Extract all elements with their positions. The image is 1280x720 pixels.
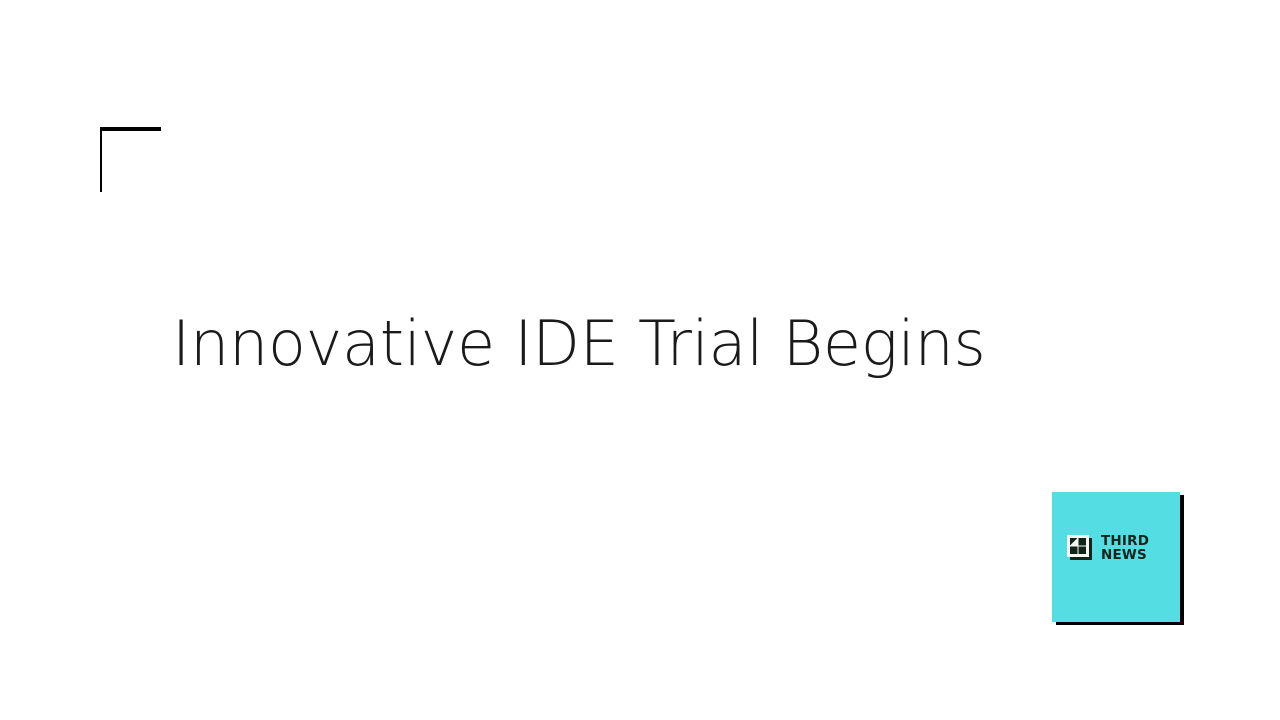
top-left-corner-bracket	[100, 127, 161, 192]
logo-wordmark-line-1: THIRD	[1101, 534, 1149, 548]
logo-wordmark: THIRD NEWS	[1101, 534, 1149, 562]
corner-bracket-left-bar	[100, 127, 102, 192]
logo-badge: THIRD NEWS	[1052, 492, 1180, 622]
corner-bracket-top-bar	[100, 127, 161, 131]
slide-title: Innovative IDE Trial Begins	[172, 305, 1072, 383]
logo-wordmark-line-2: NEWS	[1101, 548, 1149, 562]
logo-lockup: THIRD NEWS	[1066, 534, 1149, 562]
newspaper-window-icon	[1066, 534, 1094, 562]
slide-canvas: Innovative IDE Trial Begins	[0, 0, 1280, 720]
